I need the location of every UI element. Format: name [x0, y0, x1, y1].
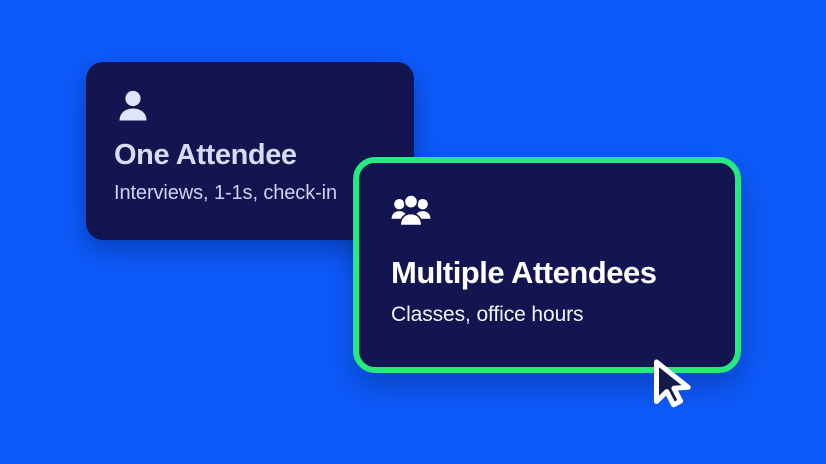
attendee-type-selector: One Attendee Interviews, 1-1s, check-in …: [0, 0, 826, 464]
card-subtitle: Classes, office hours: [391, 303, 735, 326]
attendee-option-card-multiple-attendees[interactable]: Multiple Attendees Classes, office hours: [353, 157, 741, 373]
group-people-icon: [391, 191, 431, 231]
single-person-icon: [114, 88, 152, 126]
card-title: Multiple Attendees: [391, 257, 735, 290]
